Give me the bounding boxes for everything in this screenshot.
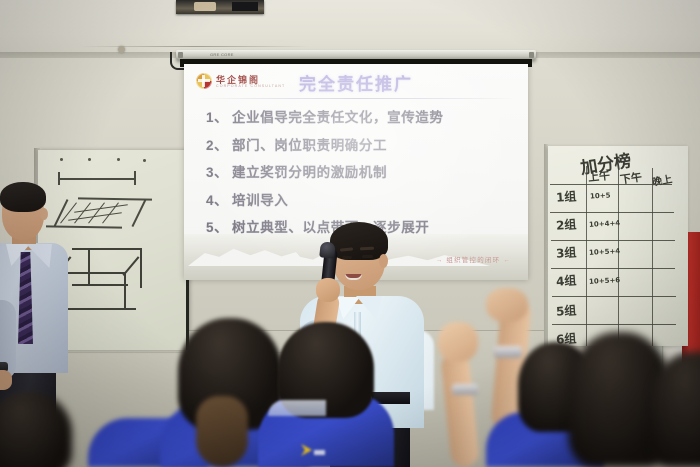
ear	[379, 254, 388, 268]
table-cell-morning: 10+5	[590, 191, 611, 200]
collar	[268, 400, 326, 416]
magnet-dot	[117, 158, 120, 161]
ear	[40, 208, 48, 220]
table-cell-morning: 10+5+6	[589, 276, 621, 286]
table-row-label: 1组	[555, 187, 576, 205]
list-item: 3、 建立奖罚分明的激励机制	[206, 161, 514, 181]
board-grid-line	[551, 240, 675, 241]
drawing-line-segment	[58, 178, 136, 180]
bullet-number: 1、	[206, 106, 232, 126]
board-col-header-evening: 晚上	[651, 170, 673, 188]
list-item: 1、 企业倡导完全责任文化，宣传造势	[206, 106, 514, 126]
ceiling-vent	[176, 0, 264, 14]
bullet-number: 2、	[206, 134, 232, 154]
drawing-cuboid-edge	[140, 248, 142, 288]
bullet-number: 3、	[206, 161, 232, 181]
ponytail	[196, 396, 248, 467]
bullet-number: 4、	[206, 189, 232, 209]
wristwatch	[494, 346, 522, 358]
list-item: 4、 培训导入	[206, 189, 514, 209]
whiteboard-right[interactable]: 加分榜 上午 下午 晚上 1组 10+5 2组 10+4+4 3组 10+5+4…	[548, 146, 688, 346]
drawing-cuboid-edge	[72, 284, 128, 286]
bullet-text: 企业倡导完全责任文化，宣传造势	[232, 106, 444, 126]
magnet-dot	[88, 158, 91, 161]
board-grid-line	[550, 212, 674, 213]
drawing-parallelogram-side	[132, 199, 147, 227]
ceiling-crack	[80, 46, 310, 47]
magnet-dot	[60, 158, 63, 161]
hair	[0, 182, 46, 212]
board-grid-line	[618, 166, 619, 346]
list-item: 2、 部门、岗位职责明确分工	[206, 134, 514, 154]
table-cell-morning: 10+4+4	[589, 219, 621, 229]
yellow-chevron-logo-icon	[300, 442, 326, 458]
slide-footer-caption: →组织管控的闭环←	[433, 254, 514, 264]
arrow-right-icon: →	[433, 257, 447, 264]
slide-header: 华企锦阁 CORPORATE CONSULTANT 完全责任推广	[184, 64, 528, 98]
magnet-dot	[143, 159, 146, 162]
table-row-label: 5组	[555, 301, 576, 319]
bullet-text: 建立奖罚分明的激励机制	[232, 161, 387, 181]
bullet-number: 5、	[206, 216, 232, 236]
table-row-label: 3组	[555, 243, 576, 261]
drawing-cuboid-edge	[124, 272, 126, 310]
roller-label: GRE CORE	[210, 52, 234, 57]
hair	[330, 222, 388, 260]
photo-scene: GRE CORE 华企锦阁 CORPORATE CONSULTANT 完全责任推…	[0, 0, 700, 467]
wristwatch	[452, 384, 478, 395]
board-col-header-morning: 上午	[587, 167, 611, 185]
table-row-label: 4组	[555, 271, 576, 289]
eye	[362, 255, 373, 258]
board-grid-line	[586, 166, 587, 346]
table-row-label: 2组	[555, 215, 576, 233]
bullet-text: 树立典型、以点带面、逐步展开	[232, 216, 429, 236]
bullet-text: 部门、岗位职责明确分工	[232, 134, 387, 154]
raised-hand	[438, 322, 478, 362]
slide-footer-text: 组织管控的闭环	[446, 257, 500, 264]
board-grid-line	[652, 168, 653, 346]
drawing-cuboid-edge	[88, 248, 90, 284]
drawing-tick	[58, 172, 60, 185]
drawing-tick	[134, 171, 136, 185]
drawing-parallelogram-top	[78, 197, 152, 200]
board-grid-line	[550, 184, 672, 185]
table-cell-morning: 10+5+4	[589, 247, 621, 257]
board-grid-line	[552, 324, 676, 325]
board-grid-line	[552, 296, 676, 297]
board-grid-line	[551, 268, 675, 269]
drawing-parallelogram-bottom	[46, 225, 122, 228]
hand-holding-mic	[316, 278, 340, 302]
arrow-left-icon: ←	[500, 257, 514, 264]
drawing-cuboid-edge	[72, 248, 140, 250]
slide-title: 完全责任推广	[184, 70, 528, 95]
microphone-head-icon	[319, 241, 336, 258]
drawing-cuboid-edge	[68, 308, 136, 310]
bullet-text: 培训导入	[232, 189, 288, 209]
raised-hand	[486, 288, 528, 322]
slide-title-divider	[198, 98, 514, 99]
drawing-cuboid-edge	[122, 256, 139, 275]
eye	[342, 256, 352, 259]
ceiling-spot	[118, 46, 125, 53]
